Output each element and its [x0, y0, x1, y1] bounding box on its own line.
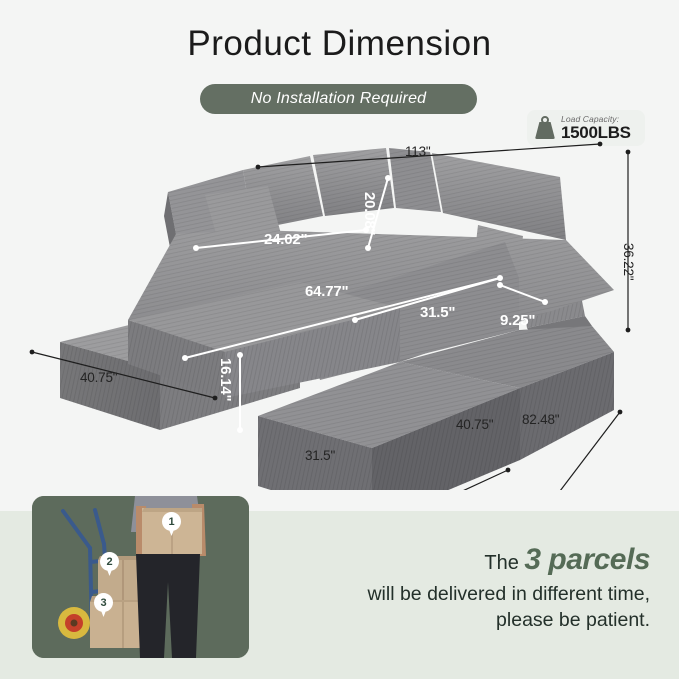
dimension-label-chaise-length: 64.77" [305, 283, 348, 300]
dimension-label-armrest-width: 9.25" [500, 312, 535, 329]
no-installation-badge-label: No Installation Required [251, 90, 427, 108]
dimension-label-overall-height: 36.22" [621, 243, 636, 280]
parcel-marker-3: 3 [94, 593, 113, 618]
dimension-label-ottoman-depth: 31.5" [305, 448, 335, 463]
sofa-illustration: 113" 20.08" 24.02" 64.77" 36.22" 31.5" 9… [0, 130, 679, 490]
delivery-message: The 3 parcels will be delivered in diffe… [290, 543, 650, 634]
no-installation-badge: No Installation Required [200, 84, 477, 114]
delivery-message-line2-text: will be delivered in different time, [290, 581, 650, 607]
dimension-label-side-depth: 40.75" [456, 417, 493, 432]
delivery-message-line1: The 3 parcels [290, 543, 650, 577]
dimension-label-backrest-height: 20.08" [361, 192, 378, 235]
delivery-message-highlight: 3 parcels [524, 543, 650, 576]
parcel-marker-2: 2 [100, 552, 119, 577]
delivery-message-line3-text: please be patient. [290, 607, 650, 633]
delivery-section: 1 2 3 The 3 parcels will be delivered in… [0, 511, 679, 679]
delivery-message-line2: will be delivered in different time, ple… [290, 581, 650, 634]
dimension-section: Product Dimension No Installation Requir… [0, 0, 679, 511]
dimension-label-seat-width-right: 31.5" [420, 304, 455, 321]
dimension-label-seat-depth: 24.02" [264, 231, 307, 248]
parcel-marker-1: 1 [162, 512, 181, 537]
dimension-label-seat-height: 16.14" [217, 358, 234, 401]
dimension-label-ottoman-width: 40.75" [80, 370, 117, 385]
dimension-label-overall-depth: 82.48" [522, 412, 559, 427]
page-title: Product Dimension [0, 24, 679, 64]
load-capacity-label: Load Capacity: [561, 115, 631, 124]
delivery-photo: 1 2 3 [32, 496, 249, 658]
dimension-label-overall-width-top: 113" [405, 144, 431, 159]
delivery-message-prefix: The [484, 552, 518, 574]
